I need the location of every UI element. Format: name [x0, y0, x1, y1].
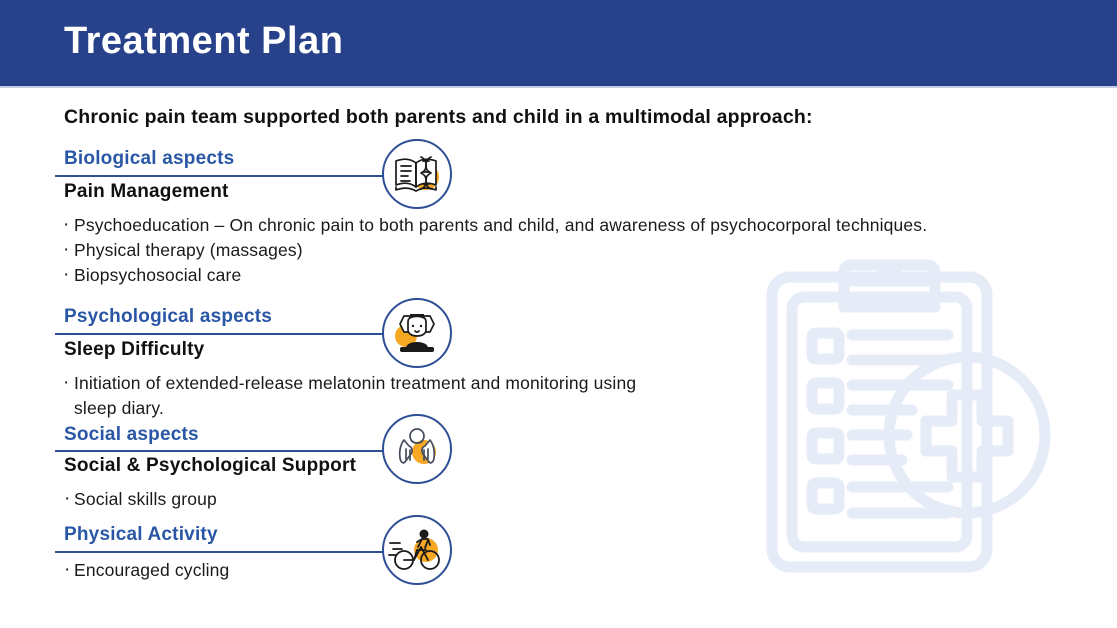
section-subheading: Social & Psychological Support: [64, 455, 356, 477]
list-item: Initiation of extended-release melatonin…: [63, 371, 674, 421]
list-item: Biopsychosocial care: [63, 263, 927, 288]
page-title: Treatment Plan: [64, 20, 343, 63]
section-heading: Social aspects: [64, 424, 199, 446]
section-heading: Psychological aspects: [64, 306, 272, 328]
list-item: Social skills group: [64, 487, 217, 512]
section-heading: Biological aspects: [64, 148, 234, 170]
list-item: Psychoeducation – On chronic pain to bot…: [63, 213, 927, 238]
section-bullets: Encouraged cycling: [64, 558, 229, 583]
intro-statement: Chronic pain team supported both parents…: [64, 106, 813, 129]
section-rule: [55, 551, 390, 553]
section-bullets: Social skills group: [64, 487, 217, 512]
list-item: Physical therapy (massages): [63, 238, 927, 263]
section-rule: [55, 450, 390, 452]
section-subheading: Pain Management: [64, 181, 229, 203]
sleeping-person-icon: [382, 298, 452, 368]
section-subheading: Sleep Difficulty: [64, 339, 204, 361]
section-heading: Physical Activity: [64, 524, 218, 546]
list-item: Encouraged cycling: [64, 558, 229, 583]
caring-hands-icon: [382, 414, 452, 484]
book-dna-icon: [382, 139, 452, 209]
section-bullets: Initiation of extended-release melatonin…: [63, 371, 674, 421]
section-bullets: Psychoeducation – On chronic pain to bot…: [63, 213, 927, 288]
cyclist-icon: [382, 515, 452, 585]
section-rule: [55, 333, 390, 335]
section-rule: [55, 175, 390, 177]
content-area: Chronic pain team supported both parents…: [0, 86, 1117, 628]
